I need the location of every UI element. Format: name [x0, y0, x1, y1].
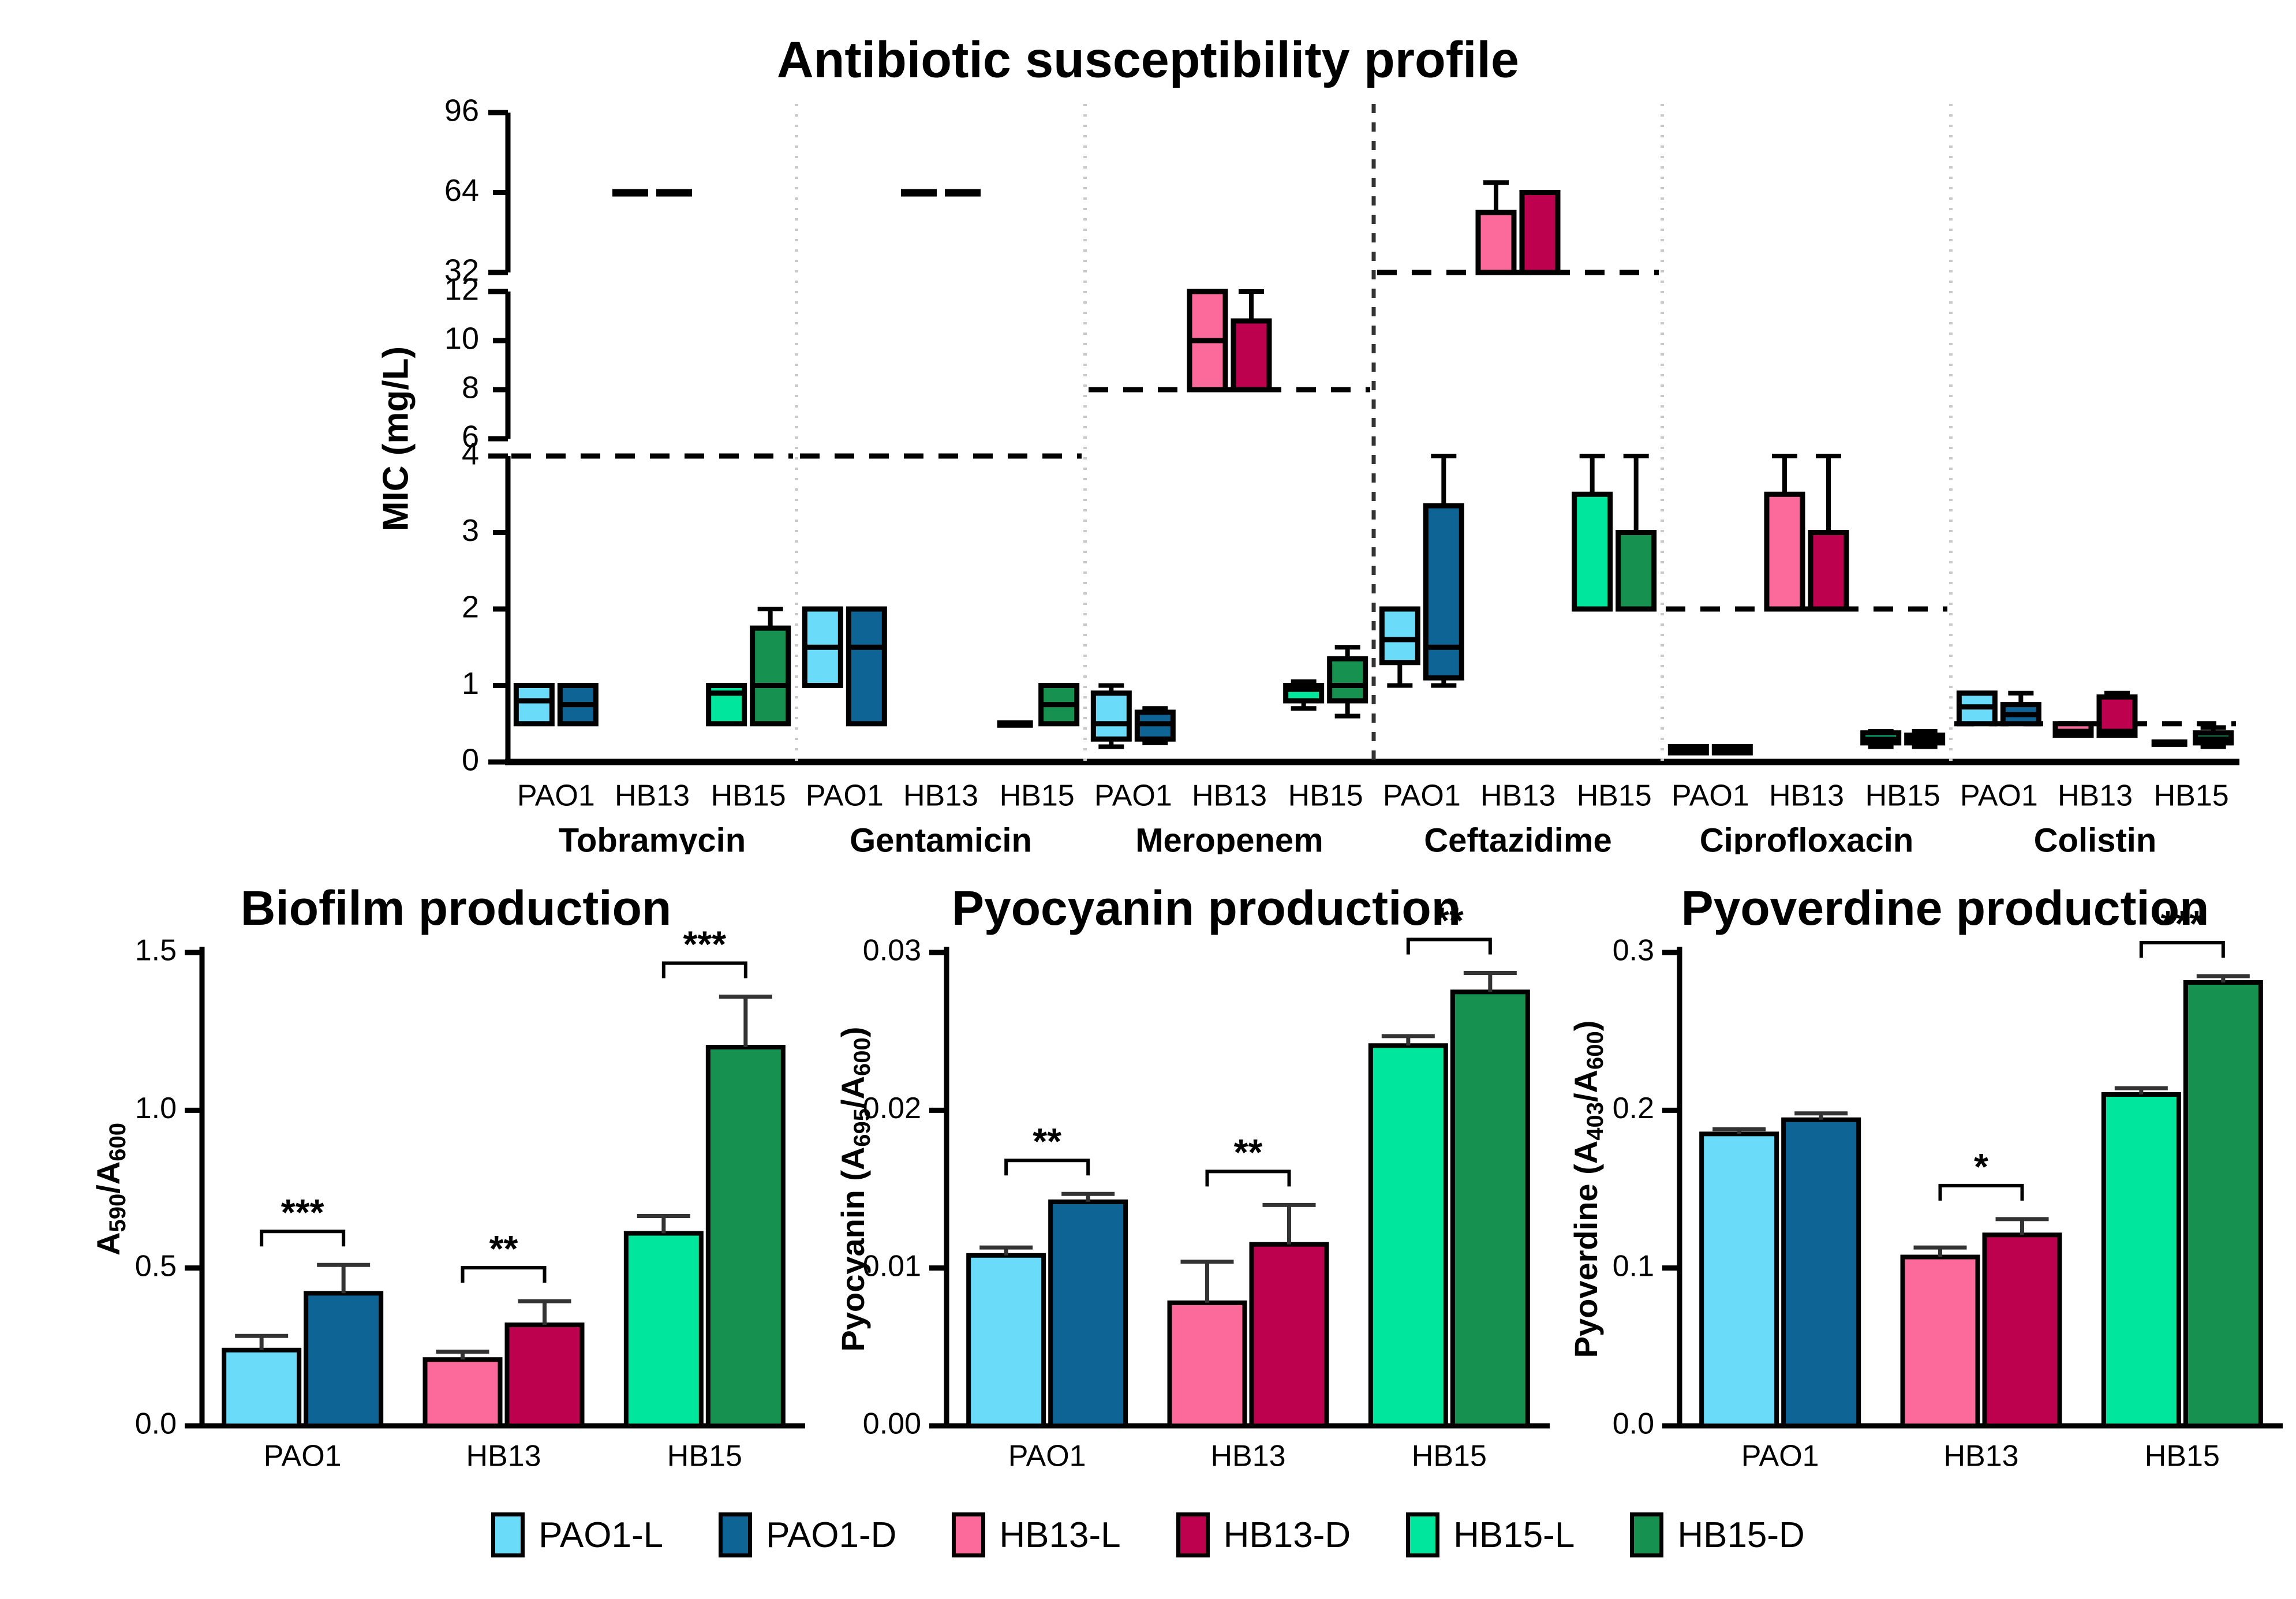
- mic-box-pao1-l: [1670, 747, 1706, 753]
- mic-strain-label: PAO1: [1383, 779, 1461, 813]
- bar-pao1-L: [1702, 1134, 1777, 1426]
- y-tick-label: 0.1: [1613, 1249, 1654, 1283]
- y-tick-label: 0.03: [863, 934, 921, 967]
- mic-box-hb13-d: [1522, 193, 1558, 273]
- y-tick-label: 1: [462, 666, 479, 701]
- mic-box-hb15-d: [1330, 647, 1366, 716]
- pyocyanin-chart: Pyocyanin production 0.000.010.020.03Pyo…: [802, 872, 1558, 1495]
- mic-box-pao1-d: [848, 609, 884, 724]
- mic-strain-label: PAO1: [517, 779, 595, 813]
- bar-y-axis-label: Pyocyanin (A695/A600): [835, 1027, 875, 1352]
- legend-label-hb15-d: HB15-D: [1677, 1515, 1805, 1556]
- mic-strain-label: PAO1: [1094, 779, 1172, 813]
- significance-label: *: [1974, 1146, 1988, 1187]
- box-body: [1575, 494, 1610, 609]
- mic-strain-label: HB13: [1480, 779, 1555, 813]
- bar-category-label: PAO1: [264, 1440, 342, 1473]
- mic-y-axis-label: MIC (mg/L): [376, 346, 416, 531]
- y-tick-label: 0.0: [135, 1407, 177, 1441]
- mic-box-pao1-d: [1137, 708, 1173, 743]
- mic-box-hb15-l: [1286, 682, 1322, 708]
- significance-bracket: [463, 1268, 545, 1283]
- box-body: [1233, 321, 1269, 390]
- bar-hb15-L: [2104, 1094, 2179, 1426]
- mic-box-hb15-d: [1907, 731, 1943, 747]
- box-body: [1093, 693, 1129, 739]
- box-collapsed: [2152, 739, 2187, 747]
- legend-swatch-pao1-d: [719, 1512, 752, 1557]
- mic-strain-label: HB13: [2058, 779, 2133, 813]
- y-tick-label: 3: [462, 513, 479, 548]
- pyocyanin-chart-title: Pyocyanin production: [952, 881, 1461, 935]
- y-tick-label: 1.0: [135, 1092, 177, 1125]
- significance-bracket: [2141, 943, 2223, 958]
- significance-bracket: [1207, 1171, 1289, 1186]
- mic-box-hb13-d: [1811, 456, 1846, 609]
- bar-category-label: HB15: [1412, 1440, 1487, 1473]
- mic-box-hb13-d: [656, 189, 692, 197]
- box-body: [753, 628, 788, 724]
- figure-legend: PAO1-LPAO1-DHB13-LHB13-DHB15-LHB15-D: [0, 1512, 2296, 1557]
- legend-item-hb15-l[interactable]: HB15-L: [1406, 1512, 1575, 1557]
- mic-strain-label: HB13: [1769, 779, 1844, 813]
- mic-box-hb13-l: [1767, 456, 1803, 609]
- mic-antibiotic-label: Colistin: [2034, 821, 2157, 854]
- box-body: [516, 686, 552, 724]
- bar-category-label: PAO1: [1008, 1440, 1086, 1473]
- y-tick-label: 6: [462, 419, 479, 454]
- legend-swatch-hb13-d: [1176, 1512, 1210, 1557]
- significance-bracket: [664, 963, 746, 978]
- mic-chart-title: Antibiotic susceptibility profile: [777, 31, 1519, 88]
- mic-box-hb15-l: [2152, 739, 2187, 747]
- legend-item-hb13-l[interactable]: HB13-L: [952, 1512, 1120, 1557]
- y-tick-label: 0.00: [863, 1407, 921, 1441]
- mic-strain-label: PAO1: [1671, 779, 1749, 813]
- y-tick-label: 0.01: [863, 1249, 921, 1283]
- mic-strain-label: PAO1: [1960, 779, 2038, 813]
- mic-box-hb13-d: [2099, 693, 2135, 735]
- y-tick-label: 2: [462, 589, 479, 624]
- mic-box-pao1-d: [1426, 456, 1461, 686]
- bar-category-label: HB15: [2145, 1440, 2220, 1473]
- mic-box-pao1-l: [1093, 686, 1129, 747]
- biofilm-chart: Biofilm production 0.00.51.01.5A590/A600…: [58, 872, 814, 1495]
- bar-hb15-L: [626, 1234, 701, 1426]
- significance-label: **: [489, 1228, 518, 1269]
- mic-box-hb15-d: [1041, 686, 1077, 724]
- bar-y-axis-label: A590/A600: [90, 1123, 130, 1256]
- mic-box-pao1-l: [516, 686, 552, 724]
- mic-box-pao1-l: [805, 609, 840, 686]
- y-tick-label: 96: [444, 93, 479, 128]
- biofilm-chart-title: Biofilm production: [241, 881, 672, 935]
- mic-box-pao1-d: [1714, 747, 1750, 753]
- legend-item-hb13-d[interactable]: HB13-D: [1176, 1512, 1351, 1557]
- legend-swatch-hb15-d: [1630, 1512, 1663, 1557]
- mic-strain-label: HB13: [615, 779, 690, 813]
- mic-box-hb15-l: [1863, 731, 1899, 747]
- mic-box-hb15-d: [1618, 456, 1654, 609]
- significance-bracket: [1006, 1160, 1088, 1175]
- bar-category-label: HB13: [1943, 1440, 2018, 1473]
- bar-category-label: HB13: [1210, 1440, 1285, 1473]
- significance-bracket: [1940, 1186, 2022, 1201]
- legend-swatch-pao1-l: [491, 1512, 525, 1557]
- mic-box-hb15-l: [997, 720, 1033, 728]
- mic-strain-label: HB13: [903, 779, 978, 813]
- mic-box-hb15-d: [2196, 727, 2231, 746]
- mic-strain-label: HB15: [711, 779, 786, 813]
- y-tick-label: 0.5: [135, 1249, 177, 1283]
- bar-category-label: PAO1: [1741, 1440, 1819, 1473]
- mic-box-hb13-l: [2055, 724, 2091, 735]
- significance-label: ***: [2160, 903, 2204, 944]
- mic-strain-label: HB15: [1000, 779, 1075, 813]
- bar-hb13-D: [507, 1325, 582, 1426]
- legend-swatch-hb15-l: [1406, 1512, 1439, 1557]
- y-tick-label: 0: [462, 742, 479, 777]
- significance-label: ***: [683, 923, 726, 965]
- y-tick-label: 64: [444, 173, 479, 208]
- box-body: [1426, 506, 1461, 678]
- box-collapsed: [997, 720, 1033, 728]
- mic-strain-label: HB15: [1288, 779, 1363, 813]
- mic-antibiotic-label: Tobramycin: [559, 821, 746, 854]
- box-collapsed: [656, 189, 692, 197]
- legend-label-pao1-d: PAO1-D: [766, 1515, 896, 1556]
- mic-antibiotic-label: Ciprofloxacin: [1700, 821, 1914, 854]
- box-collapsed: [945, 189, 981, 197]
- significance-label: **: [1033, 1120, 1061, 1162]
- bar-hb15-D: [1453, 992, 1528, 1426]
- legend-swatch-hb13-l: [952, 1512, 985, 1557]
- bar-hb13-L: [425, 1359, 500, 1426]
- box-body: [1767, 494, 1803, 609]
- significance-bracket: [1408, 940, 1490, 955]
- bar-pao1-L: [968, 1256, 1044, 1426]
- mic-strain-label: HB15: [1865, 779, 1940, 813]
- legend-label-hb13-l: HB13-L: [999, 1515, 1120, 1556]
- mic-antibiotic-label: Ceftazidime: [1424, 821, 1612, 854]
- mic-antibiotic-label: Gentamicin: [850, 821, 1032, 854]
- mic-box-hb13-l: [901, 189, 937, 197]
- figure-root: Antibiotic susceptibility profile 012346…: [0, 0, 2296, 1599]
- mic-antibiotic-label: Meropenem: [1135, 821, 1323, 854]
- mic-box-hb15-d: [753, 609, 788, 724]
- mic-strain-label: HB15: [2154, 779, 2229, 813]
- legend-item-pao1-d[interactable]: PAO1-D: [719, 1512, 896, 1557]
- box-collapsed: [612, 189, 648, 197]
- bar-hb13-D: [1252, 1245, 1327, 1426]
- box-body: [1478, 212, 1514, 272]
- mic-strain-label: HB15: [1577, 779, 1652, 813]
- box-body: [1618, 533, 1654, 610]
- bar-pao1-D: [306, 1293, 381, 1426]
- bar-hb13-D: [1985, 1235, 2060, 1426]
- y-tick-label: 0.3: [1613, 934, 1654, 967]
- box-body: [848, 609, 884, 724]
- bar-hb13-L: [1170, 1303, 1245, 1426]
- legend-item-hb15-d[interactable]: HB15-D: [1630, 1512, 1805, 1557]
- bar-pao1-D: [1783, 1120, 1859, 1426]
- mic-box-hb15-l: [709, 686, 745, 724]
- mic-box-hb13-d: [945, 189, 981, 197]
- pyoverdine-chart: Pyoverdine production 0.00.10.20.3Pyover…: [1535, 872, 2291, 1495]
- bar-hb15-D: [2186, 982, 2261, 1426]
- mic-box-hb13-d: [1233, 292, 1269, 390]
- y-tick-label: 1.5: [135, 934, 177, 967]
- mic-chart: Antibiotic susceptibility profile 012346…: [0, 0, 2296, 854]
- y-tick-label: 0.0: [1613, 1407, 1654, 1441]
- mic-box-hb13-l: [1478, 182, 1514, 272]
- bar-pao1-L: [224, 1350, 299, 1426]
- y-tick-label: 8: [462, 370, 479, 405]
- legend-label-hb13-d: HB13-D: [1224, 1515, 1351, 1556]
- mic-box-pao1-l: [1959, 693, 1995, 724]
- mic-box-hb13-l: [1190, 292, 1225, 390]
- y-tick-label: 32: [444, 253, 479, 287]
- mic-box-pao1-d: [560, 686, 596, 724]
- box-body: [1330, 659, 1366, 701]
- bar-pao1-D: [1050, 1202, 1125, 1426]
- pyoverdine-chart-title: Pyoverdine production: [1681, 881, 2209, 935]
- legend-item-pao1-l[interactable]: PAO1-L: [491, 1512, 663, 1557]
- y-tick-label: 10: [444, 321, 479, 356]
- bar-hb15-D: [708, 1047, 783, 1426]
- y-tick-label: 0.2: [1613, 1092, 1654, 1125]
- significance-label: **: [1234, 1131, 1263, 1173]
- significance-bracket: [261, 1231, 343, 1246]
- box-body: [1811, 533, 1846, 610]
- bar-hb13-L: [1903, 1257, 1978, 1426]
- box-collapsed: [901, 189, 937, 197]
- bar-category-label: HB15: [667, 1440, 742, 1473]
- bar-y-axis-label: Pyoverdine (A403/A600): [1568, 1021, 1608, 1358]
- bar-category-label: HB13: [466, 1440, 541, 1473]
- significance-label: **: [1435, 899, 1464, 941]
- mic-strain-label: PAO1: [806, 779, 884, 813]
- mic-box-pao1-l: [1382, 609, 1418, 686]
- legend-label-pao1-l: PAO1-L: [539, 1515, 663, 1556]
- mic-box-hb13-l: [612, 189, 648, 197]
- mic-box-hb15-l: [1575, 456, 1610, 609]
- legend-label-hb15-l: HB15-L: [1453, 1515, 1575, 1556]
- box-body: [1382, 609, 1418, 663]
- bar-hb15-L: [1371, 1045, 1446, 1426]
- box-body: [1522, 193, 1558, 273]
- mic-box-pao1-d: [2003, 693, 2039, 724]
- mic-strain-label: HB13: [1192, 779, 1267, 813]
- significance-label: ***: [281, 1191, 324, 1233]
